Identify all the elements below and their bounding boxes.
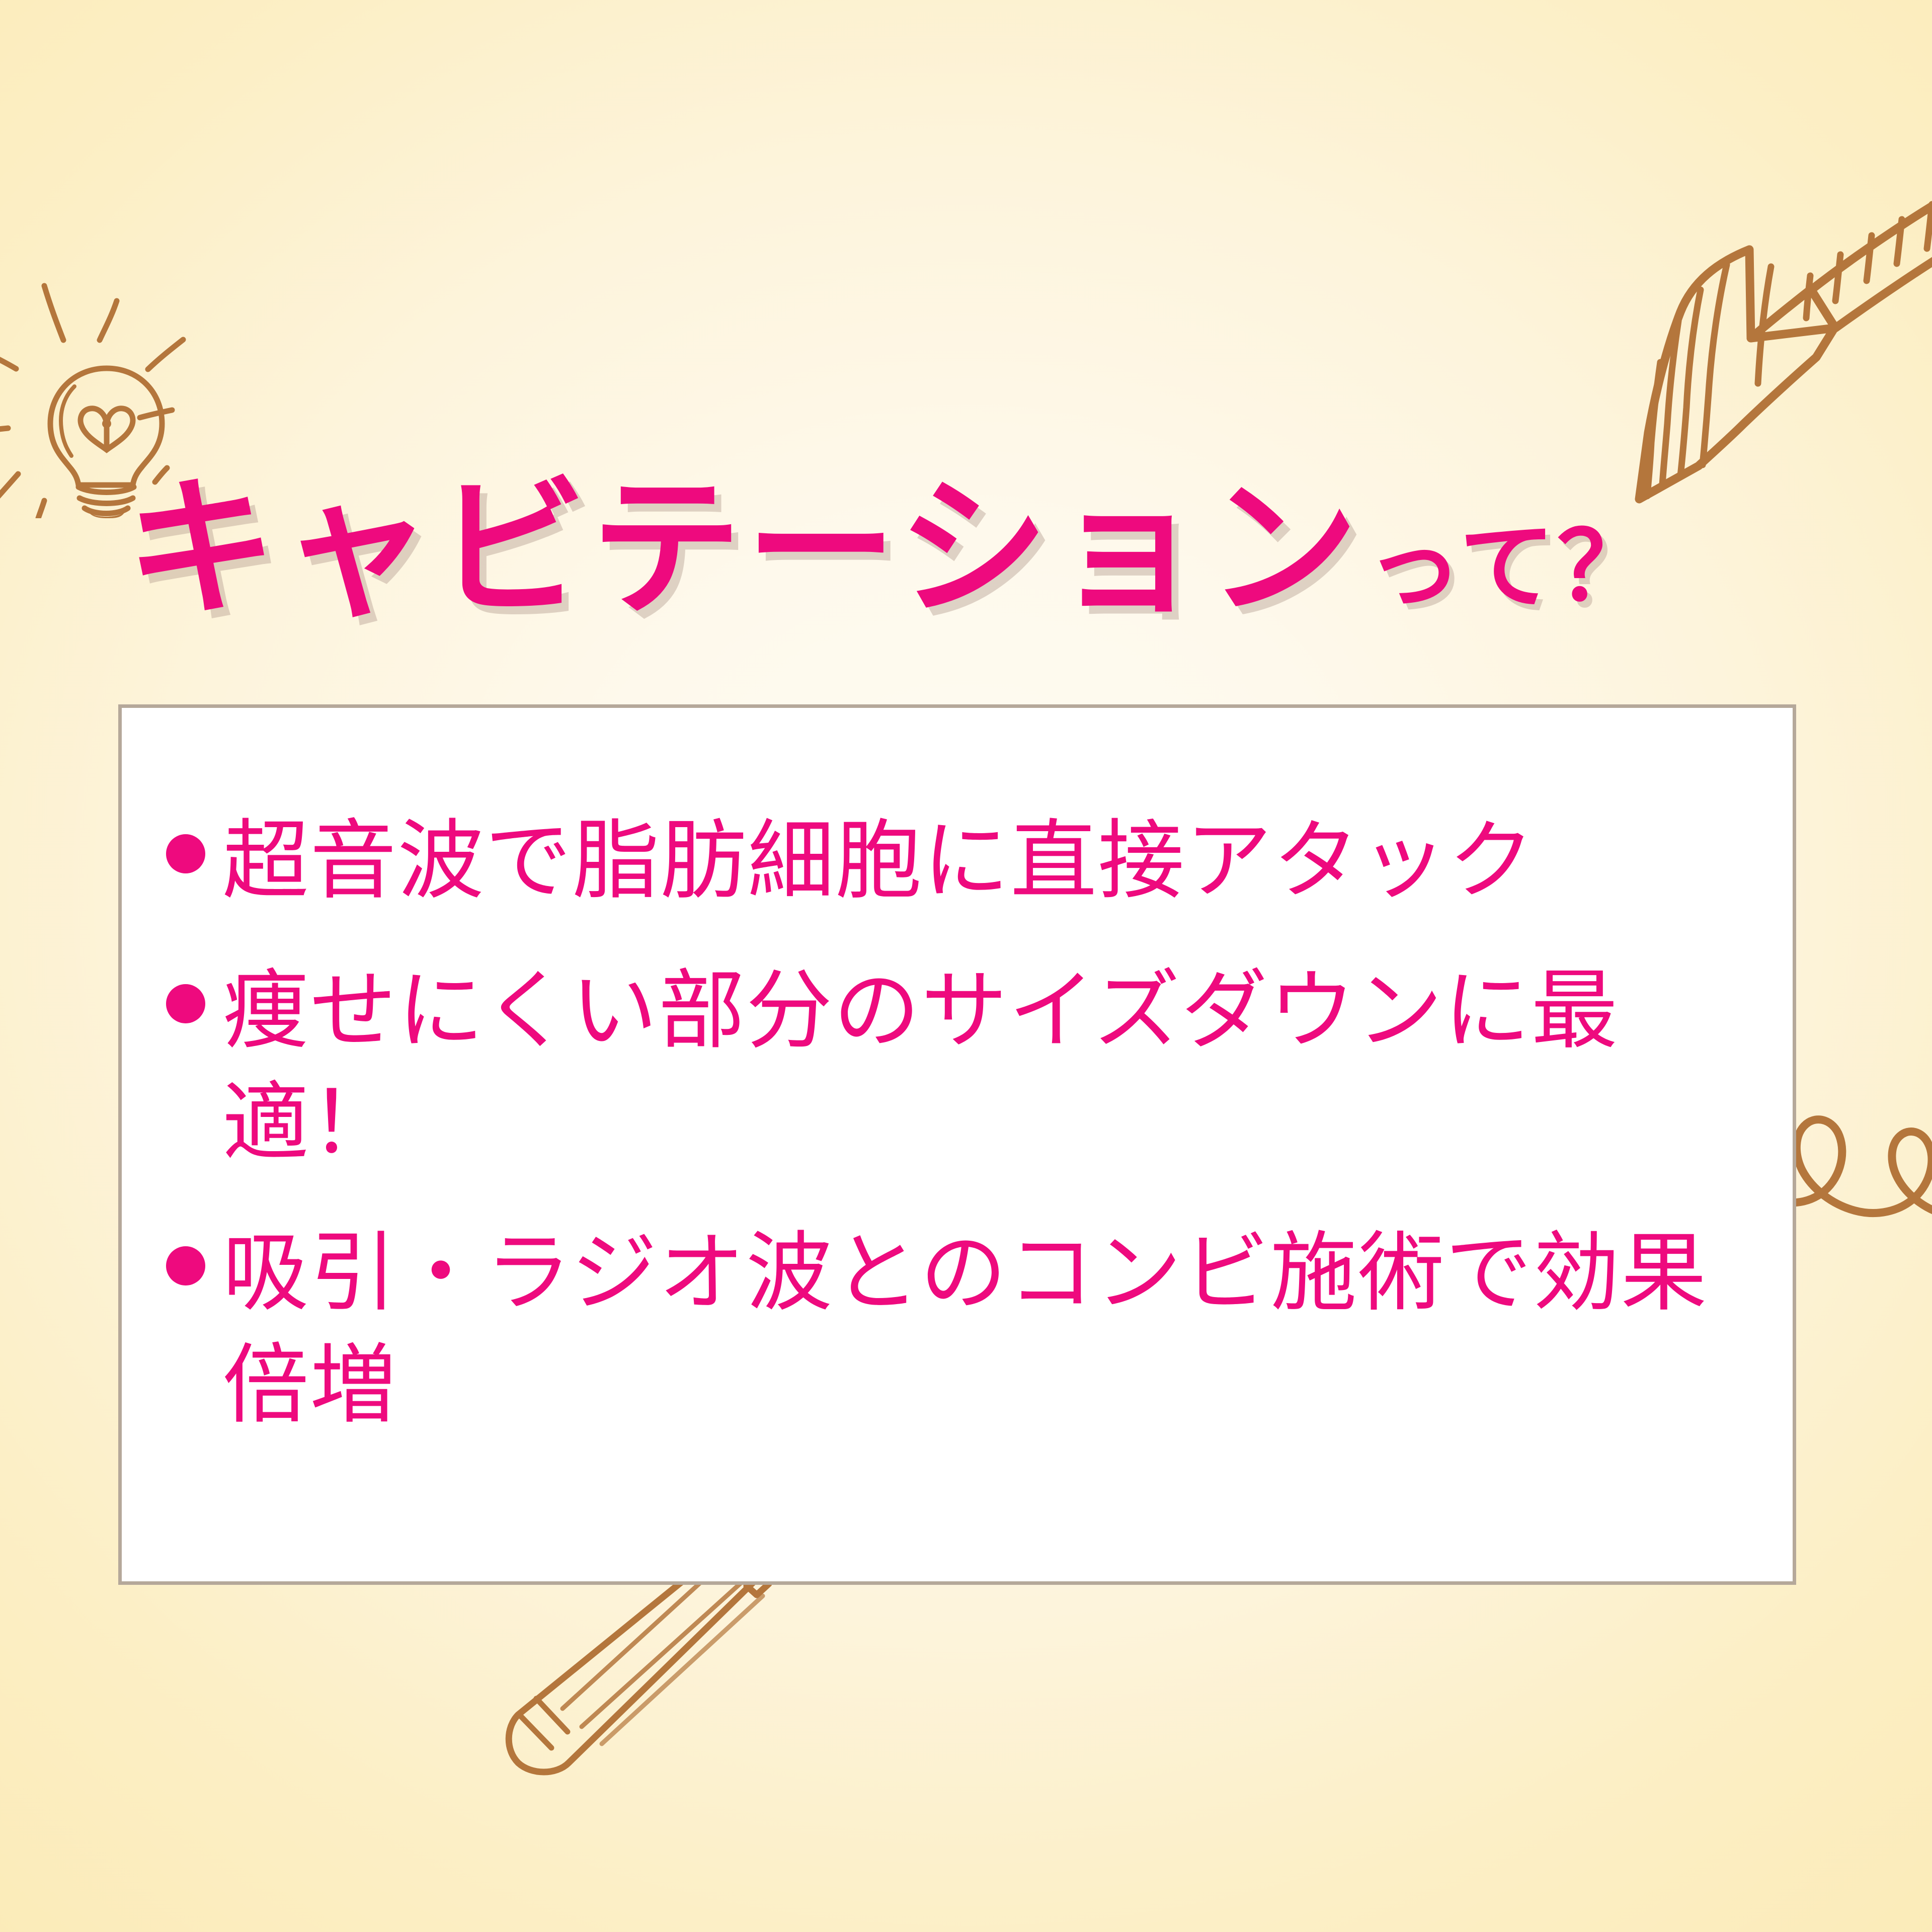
page-title-main: キャビテーション: [126, 473, 1362, 624]
benefit-list: 超音波で脂肪細胞に直接アタック 痩せにくい部分のサイズダウンに最適！ 吸引・ラジ…: [166, 805, 1766, 1442]
list-item: 超音波で脂肪細胞に直接アタック: [166, 805, 1766, 918]
bullet-dot-icon: [166, 984, 205, 1023]
bullet-dot-icon: [166, 1246, 205, 1285]
list-item-label: 痩せにくい部分のサイズダウンに最適！: [222, 955, 1766, 1180]
list-item: 吸引・ラジオ波とのコンビ施術で効果倍増: [166, 1217, 1766, 1442]
bullet-dot-icon: [166, 834, 205, 873]
list-item-label: 超音波で脂肪細胞に直接アタック: [222, 805, 1766, 918]
page-title-suffix: って？: [1366, 519, 1655, 624]
list-item-label: 吸引・ラジオ波とのコンビ施術で効果倍増: [222, 1217, 1766, 1442]
page-title: キャビテーション って？: [126, 473, 1655, 624]
list-item: 痩せにくい部分のサイズダウンに最適！: [166, 955, 1766, 1180]
